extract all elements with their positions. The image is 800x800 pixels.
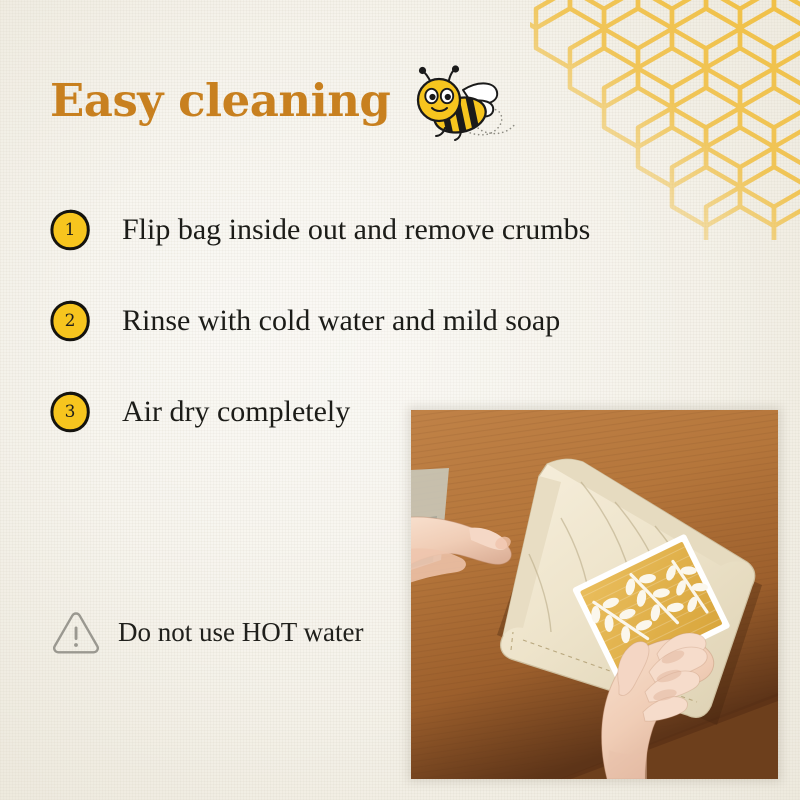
step-number-badge: 1 bbox=[48, 208, 92, 252]
warning-text: Do not use HOT water bbox=[118, 617, 363, 648]
honeycomb-pattern-icon bbox=[530, 0, 800, 240]
bee-illustration-icon bbox=[405, 62, 545, 152]
step-number-badge: 2 bbox=[48, 299, 92, 343]
warning-row: Do not use HOT water bbox=[50, 608, 363, 656]
step-text: Rinse with cold water and mild soap bbox=[122, 304, 560, 338]
step-number: 1 bbox=[48, 208, 92, 252]
warning-triangle-icon bbox=[50, 608, 102, 656]
step-number: 2 bbox=[48, 299, 92, 343]
step-text: Air dry completely bbox=[122, 395, 350, 429]
infographic-canvas: Easy cleaning bbox=[0, 0, 800, 800]
step-number: 3 bbox=[48, 390, 92, 434]
step-number-badge: 3 bbox=[48, 390, 92, 434]
product-photo bbox=[411, 410, 778, 779]
page-title: Easy cleaning bbox=[50, 74, 390, 127]
list-item: 1 Flip bag inside out and remove crumbs bbox=[48, 206, 590, 254]
step-text: Flip bag inside out and remove crumbs bbox=[122, 213, 590, 247]
list-item: 2 Rinse with cold water and mild soap bbox=[48, 297, 590, 345]
